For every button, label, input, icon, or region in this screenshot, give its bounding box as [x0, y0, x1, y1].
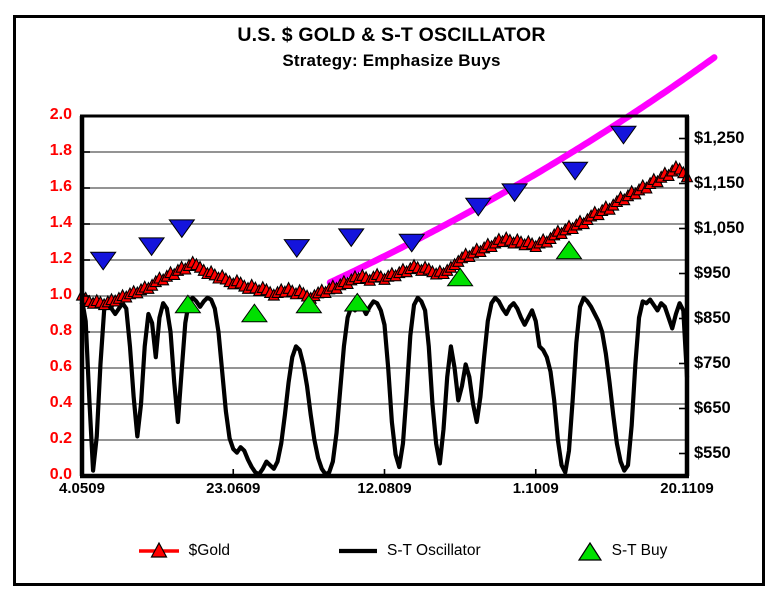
right-axis-tick-label: $1,250: [694, 129, 764, 148]
black-line-marker-icon: [338, 541, 378, 561]
chart-legend: $Gold S-T Oscillator S-T Buy: [0, 534, 783, 568]
left-axis-tick-label: 1.8: [26, 142, 72, 160]
legend-label-oscillator: S-T Oscillator: [387, 542, 481, 560]
x-axis-tick-label: 1.1009: [481, 480, 591, 497]
chart-plot-area: [0, 0, 783, 603]
right-axis-tick-label: $1,150: [694, 174, 764, 193]
left-axis-tick-label: 0.8: [26, 322, 72, 340]
x-axis-tick-label: 4.0509: [27, 480, 137, 497]
chart-screenshot: U.S. $ GOLD & S-T OSCILLATOR Strategy: E…: [0, 0, 783, 603]
legend-label-gold: $Gold: [189, 542, 230, 560]
left-axis-tick-label: 1.2: [26, 250, 72, 268]
left-axis-tick-label: 0.6: [26, 358, 72, 376]
right-axis-tick-label: $550: [694, 444, 764, 463]
x-axis-tick-label: 12.0809: [330, 480, 440, 497]
red-line-triangle-marker-icon: [138, 541, 180, 561]
legend-item-oscillator: S-T Oscillator: [338, 541, 481, 561]
left-axis-tick-label: 1.0: [26, 286, 72, 304]
right-axis-tick-label: $650: [694, 399, 764, 418]
x-axis-tick-label: 20.1109: [632, 480, 742, 497]
left-axis-tick-label: 0.4: [26, 394, 72, 412]
right-axis-tick-label: $850: [694, 309, 764, 328]
right-axis-tick-label: $1,050: [694, 219, 764, 238]
left-axis-tick-label: 0.2: [26, 430, 72, 448]
left-axis-tick-label: 1.4: [26, 214, 72, 232]
legend-label-buy: S-T Buy: [612, 542, 668, 560]
legend-item-buy: S-T Buy: [577, 541, 668, 561]
green-triangle-marker-icon: [577, 541, 603, 561]
left-axis-tick-label: 1.6: [26, 178, 72, 196]
x-axis-tick-label: 23.0609: [178, 480, 288, 497]
right-axis-tick-label: $950: [694, 264, 764, 283]
right-axis-tick-label: $750: [694, 354, 764, 373]
left-axis-tick-label: 2.0: [26, 106, 72, 124]
legend-item-gold: $Gold: [138, 541, 230, 561]
